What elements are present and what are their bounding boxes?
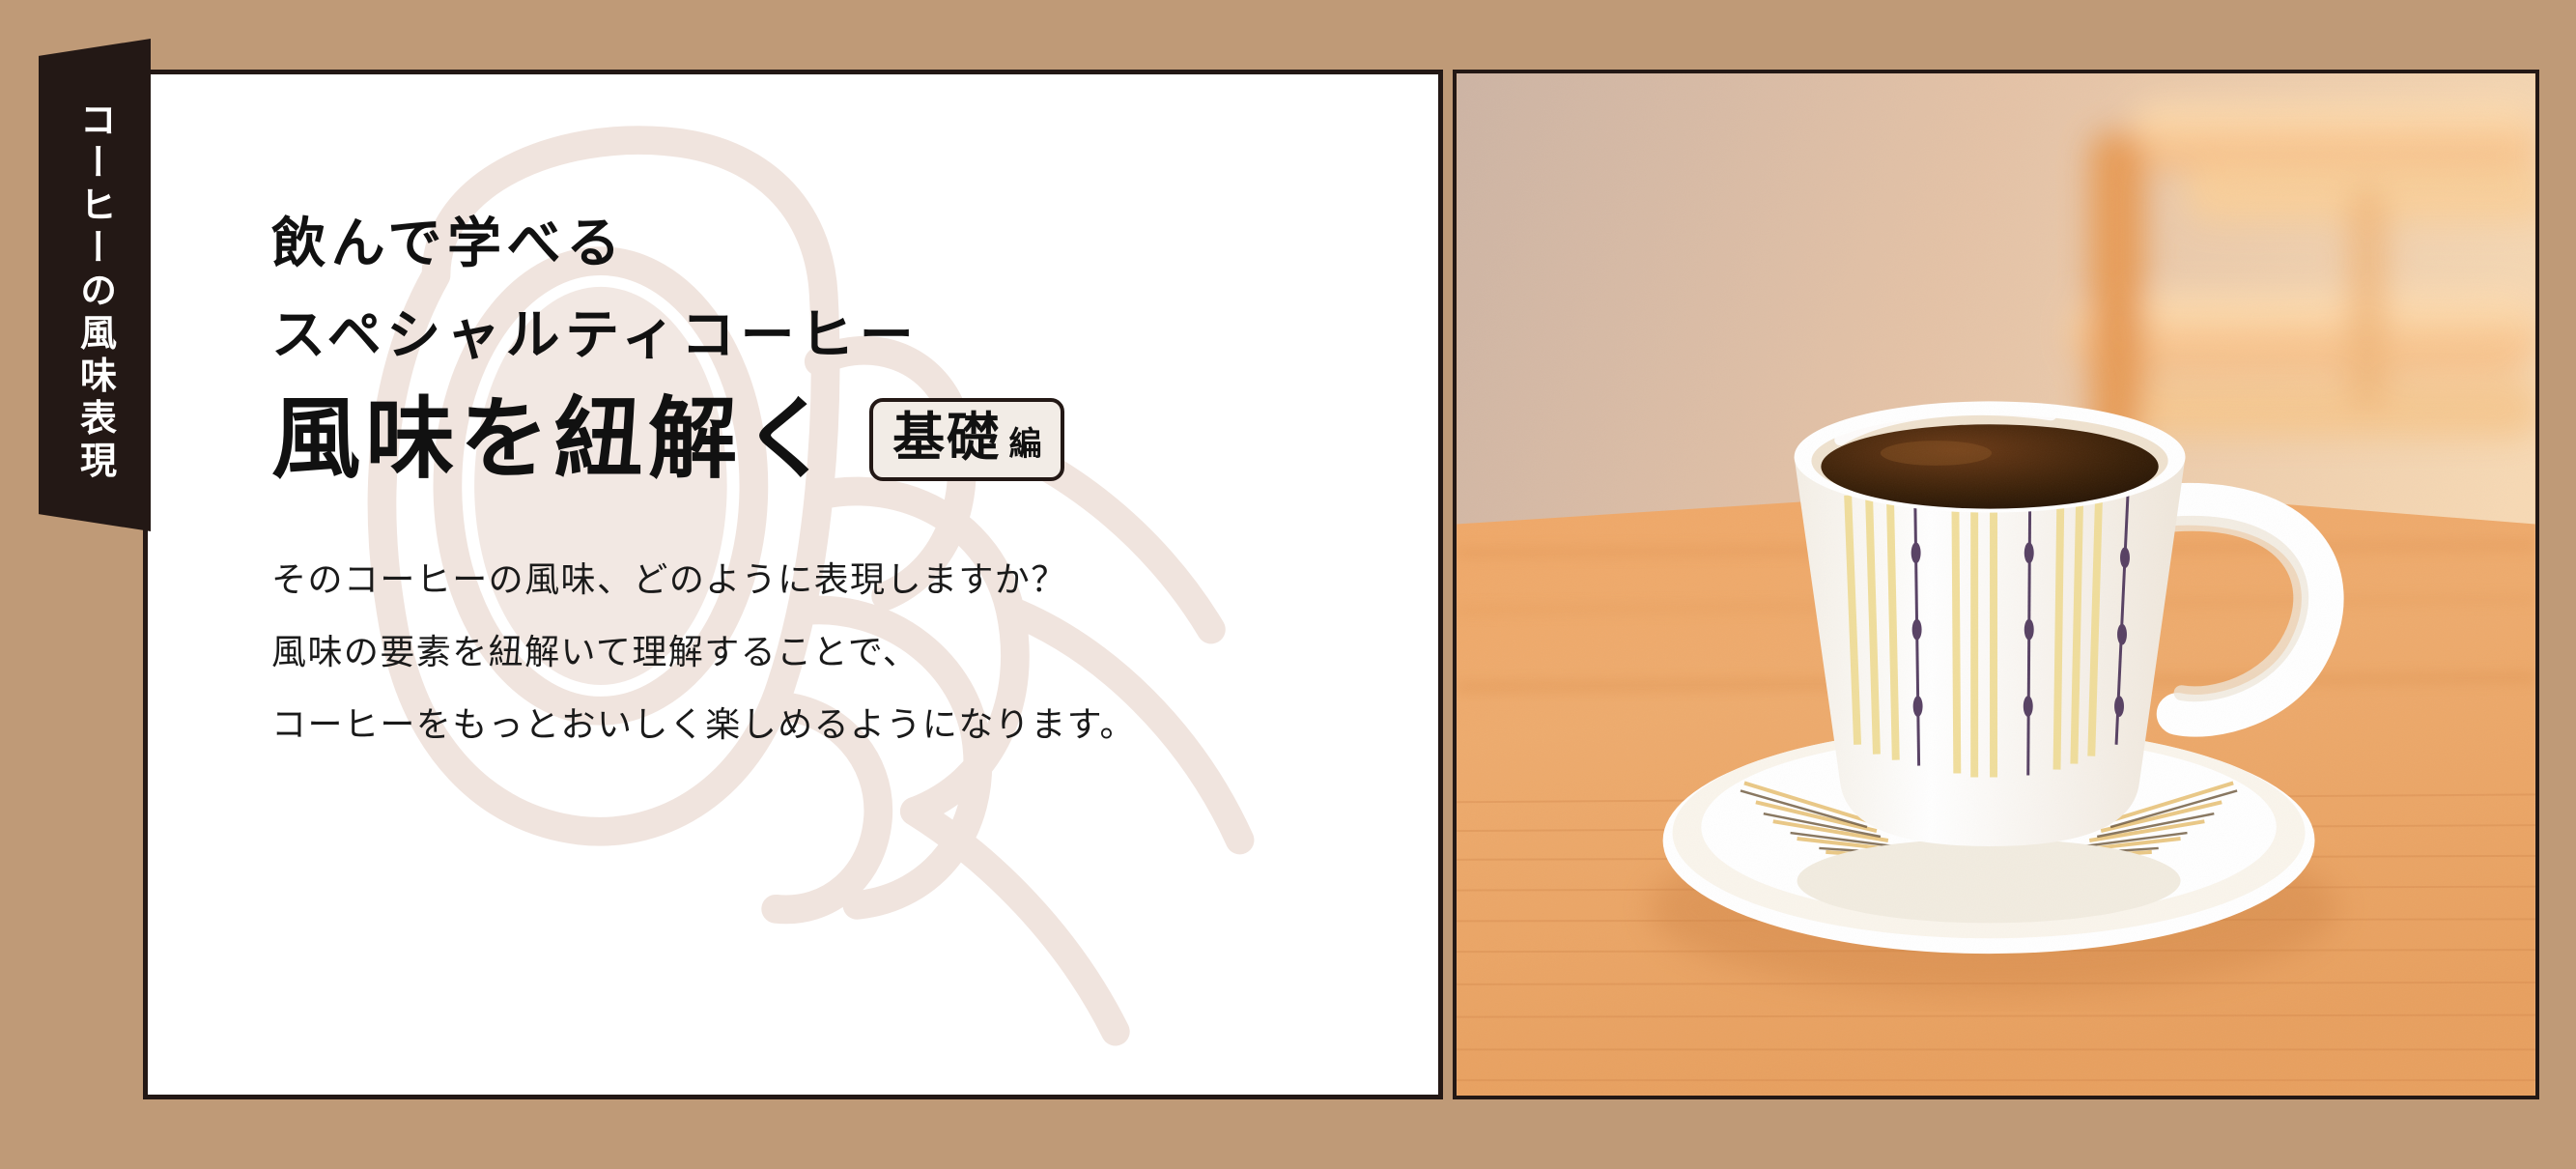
headline-row: 風味を紐解く 基礎 編 [271,395,1064,484]
lede-line-2: 風味の要素を紐解いて理解することで、 [271,630,1334,675]
ribbon-label: コーヒーの風味表現 [39,39,151,531]
hero-text-block: 飲んで学べる スペシャルティコーヒー 風味を紐解く 基礎 編 そのコーヒーの風味… [271,74,1411,1095]
content-panel: 飲んで学べる スペシャルティコーヒー 風味を紐解く 基礎 編 そのコーヒーの風味… [143,70,1443,1099]
category-ribbon: コーヒーの風味表現 [39,39,151,531]
level-badge-main: 基礎 [892,412,1001,464]
page-title: 風味を紐解く [271,395,836,484]
hero-banner: コーヒーの風味表現 [0,0,2576,1169]
lede-line-3: コーヒーをもっとおいしく楽しめるようになります。 [271,702,1334,748]
lede-line-1: そのコーヒーの風味、どのように表現しますか？ [271,557,1334,603]
kicker-line-1: 飲んで学べる [271,200,626,278]
kicker-line-2: スペシャルティコーヒー [271,292,919,370]
level-badge: 基礎 編 [869,398,1064,481]
lede-paragraphs: そのコーヒーの風味、どのように表現しますか？ 風味の要素を紐解いて理解することで… [271,557,1334,774]
coffee-photo [1453,70,2539,1099]
level-badge-sub: 編 [1008,428,1041,461]
